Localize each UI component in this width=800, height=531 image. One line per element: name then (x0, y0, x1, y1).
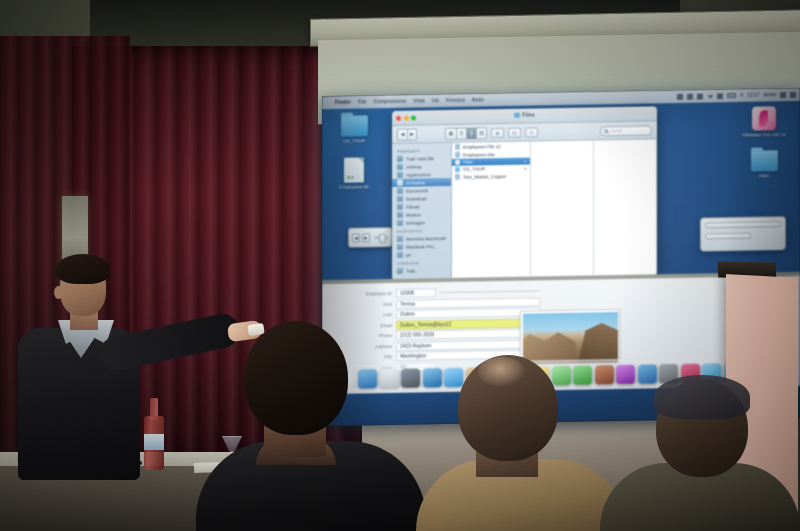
folder-icon (514, 113, 520, 118)
sidebar-item-label: AirDrop (406, 164, 422, 169)
finder-title-text: Files (522, 112, 534, 118)
sidebar-item-label: Tutti... (406, 268, 419, 273)
desktop-icon-gs-tour[interactable]: GS_TOUR (332, 115, 376, 144)
finder-column-second[interactable] (531, 140, 594, 276)
player-next-button[interactable]: ▶ (362, 233, 370, 242)
finder-view-segment[interactable]: ▦ ☰ ║ ▤ (445, 127, 487, 140)
finder-nav-segment[interactable]: ◀ ▶ (397, 128, 417, 140)
search-icon (604, 129, 608, 133)
downloads-icon (397, 196, 403, 202)
audience-member-2 (416, 355, 626, 531)
action-menu-button[interactable]: ⚙ (491, 127, 504, 137)
sidebar-item-label: Download (406, 196, 426, 201)
player-position-slider[interactable] (374, 236, 388, 239)
volume-icon[interactable] (717, 93, 723, 99)
menubar-user[interactable]: demo (763, 92, 776, 98)
sidebar-item-label: Immagini (406, 220, 425, 225)
file-name: Employees File 12 (463, 144, 501, 150)
desktop-icon-label: Files (742, 173, 786, 179)
network-icon (397, 268, 403, 274)
sidebar-item-label: pn (406, 252, 411, 257)
folder-icon (455, 160, 460, 165)
menubar-clock[interactable]: 13:17 (747, 92, 760, 98)
desktop-icon-label: FileMaker Pro Adv 12 (742, 132, 786, 138)
pictures-icon (397, 220, 403, 226)
sidebar-item-label: Scrivania (406, 180, 425, 185)
presenter-hair (56, 254, 110, 284)
disk-icon (397, 252, 403, 258)
desktop-icon-filemaker[interactable]: FileMaker Pro Adv 12 (742, 106, 786, 138)
spotlight-icon[interactable] (780, 92, 786, 98)
sidebar-item-label: Memoria Macintosh (406, 236, 446, 242)
finder-search-field[interactable]: Cerca (600, 125, 652, 136)
audience-2-bald-spot (478, 357, 526, 387)
arrange-button[interactable]: ☷ (508, 127, 521, 137)
file-name: Employees.xlsx (463, 152, 495, 158)
display-icon[interactable] (677, 93, 683, 99)
menu-item-finder[interactable]: Finder (335, 99, 351, 105)
documents-icon (397, 188, 403, 194)
desktop-icon-employees-xls[interactable]: XLS Employees.xls (332, 157, 376, 190)
menu-item-vista[interactable]: Vista (413, 98, 425, 104)
menu-item-composizione[interactable]: Composizione (373, 98, 406, 105)
bluetooth-icon[interactable] (697, 93, 703, 99)
sidebar-item-label: Musica (406, 212, 421, 217)
file-name: Files (463, 160, 473, 165)
notification-center-icon[interactable] (790, 91, 796, 97)
sidebar-item-label: Applicazioni (406, 172, 431, 177)
column-view-button[interactable]: ║ (466, 128, 476, 138)
all-files-icon (397, 156, 403, 162)
disk-icon (397, 236, 403, 242)
document-icon (455, 152, 460, 158)
finder-sidebar[interactable]: PREFERITI Tutti i miei file AirDrop Appl… (392, 143, 452, 279)
xls-badge: XLS (347, 176, 354, 180)
menu-item-aiuto[interactable]: Aiuto (472, 97, 484, 103)
document-icon (455, 144, 460, 150)
back-button[interactable]: ◀ (398, 129, 407, 139)
form-rule (440, 291, 540, 293)
wifi-icon[interactable] (707, 93, 713, 99)
field-label: First (352, 301, 392, 307)
sidebar-item-label: Documenti (406, 188, 428, 193)
share-button[interactable]: ⇧ (525, 127, 538, 137)
photograph-scene: Finder File Composizione Vista Vai Fines… (0, 0, 800, 531)
employee-id-field[interactable]: 10008 (396, 288, 436, 298)
coverflow-view-button[interactable]: ▤ (476, 128, 486, 138)
player-prev-button[interactable]: ◀ (352, 233, 360, 242)
finder-column-third[interactable] (594, 139, 657, 275)
panel-field-secondary[interactable] (705, 233, 751, 240)
folder-icon (751, 150, 778, 171)
finder-body: PREFERITI Tutti i miei file AirDrop Appl… (392, 139, 657, 279)
file-name: GS_TOUR (463, 166, 485, 171)
panel-field[interactable] (705, 221, 781, 228)
menu-item-vai[interactable]: Vai (432, 98, 439, 104)
desktop-icon-label: Employees.xls (332, 184, 376, 190)
input-source-indicator[interactable]: it (740, 92, 743, 98)
icon-view-button[interactable]: ▦ (446, 128, 456, 138)
menu-item-finestra[interactable]: Finestra (446, 97, 465, 103)
file-name: Tour_Master_Copper (463, 173, 506, 179)
audience-3-hair (654, 375, 750, 419)
presenter-ear (54, 286, 63, 299)
sidebar-item-label: Tutti i miei file (406, 156, 434, 161)
search-placeholder: Cerca (610, 128, 622, 133)
laptop-icon (397, 244, 403, 250)
finder-column-view[interactable]: Employees File 12 Employees.xlsx Files▸ … (452, 139, 657, 278)
battery-icon[interactable] (727, 93, 736, 98)
file-row[interactable]: Tour_Master_Copper (452, 172, 530, 181)
media-player-widget[interactable]: ◀ ▶ (348, 227, 392, 248)
chevron-right-icon: ▸ (525, 166, 527, 171)
filemaker-app-icon (752, 106, 776, 130)
menu-item-file[interactable]: File (358, 99, 366, 105)
sidebar-item-label: Filmati (406, 204, 420, 209)
music-icon (397, 212, 403, 218)
forward-button[interactable]: ▶ (407, 129, 416, 139)
field-label: Last (352, 312, 392, 318)
timemachine-icon[interactable] (687, 93, 693, 99)
chevron-right-icon: ▸ (525, 159, 527, 164)
desktop-icon (397, 180, 403, 186)
document-icon: XLS (344, 157, 364, 182)
audience-member-1 (196, 321, 426, 531)
finder-column-first[interactable]: Employees File 12 Employees.xlsx Files▸ … (452, 142, 531, 278)
audience-member-3 (600, 371, 800, 531)
folder-icon (341, 115, 368, 136)
secondary-window[interactable] (700, 216, 786, 252)
airdrop-icon (397, 164, 403, 170)
applications-icon (397, 172, 403, 178)
folder-icon (455, 167, 460, 172)
desktop-icon-files-folder[interactable]: Files (742, 150, 786, 179)
sidebar-item-shared-all[interactable]: Tutti... (392, 266, 451, 275)
finder-window[interactable]: Files ◀ ▶ ▦ ☰ ║ ▤ ⚙ ☷ ⇧ (392, 106, 657, 279)
finder-window-title: Files (392, 110, 657, 121)
list-view-button[interactable]: ☰ (456, 128, 466, 138)
document-icon (455, 174, 460, 180)
audience-1-head (244, 321, 348, 435)
desktop-icon-label: GS_TOUR (332, 138, 376, 144)
menubar-status-area[interactable]: it 13:17 demo (677, 91, 796, 99)
first-name-field[interactable]: Teresa (396, 297, 540, 309)
field-label: Employee ID (352, 291, 392, 297)
last-name-field[interactable]: Dutton (396, 307, 540, 319)
sidebar-item-label: MacBook Pro... (406, 244, 437, 250)
movies-icon (397, 204, 403, 210)
